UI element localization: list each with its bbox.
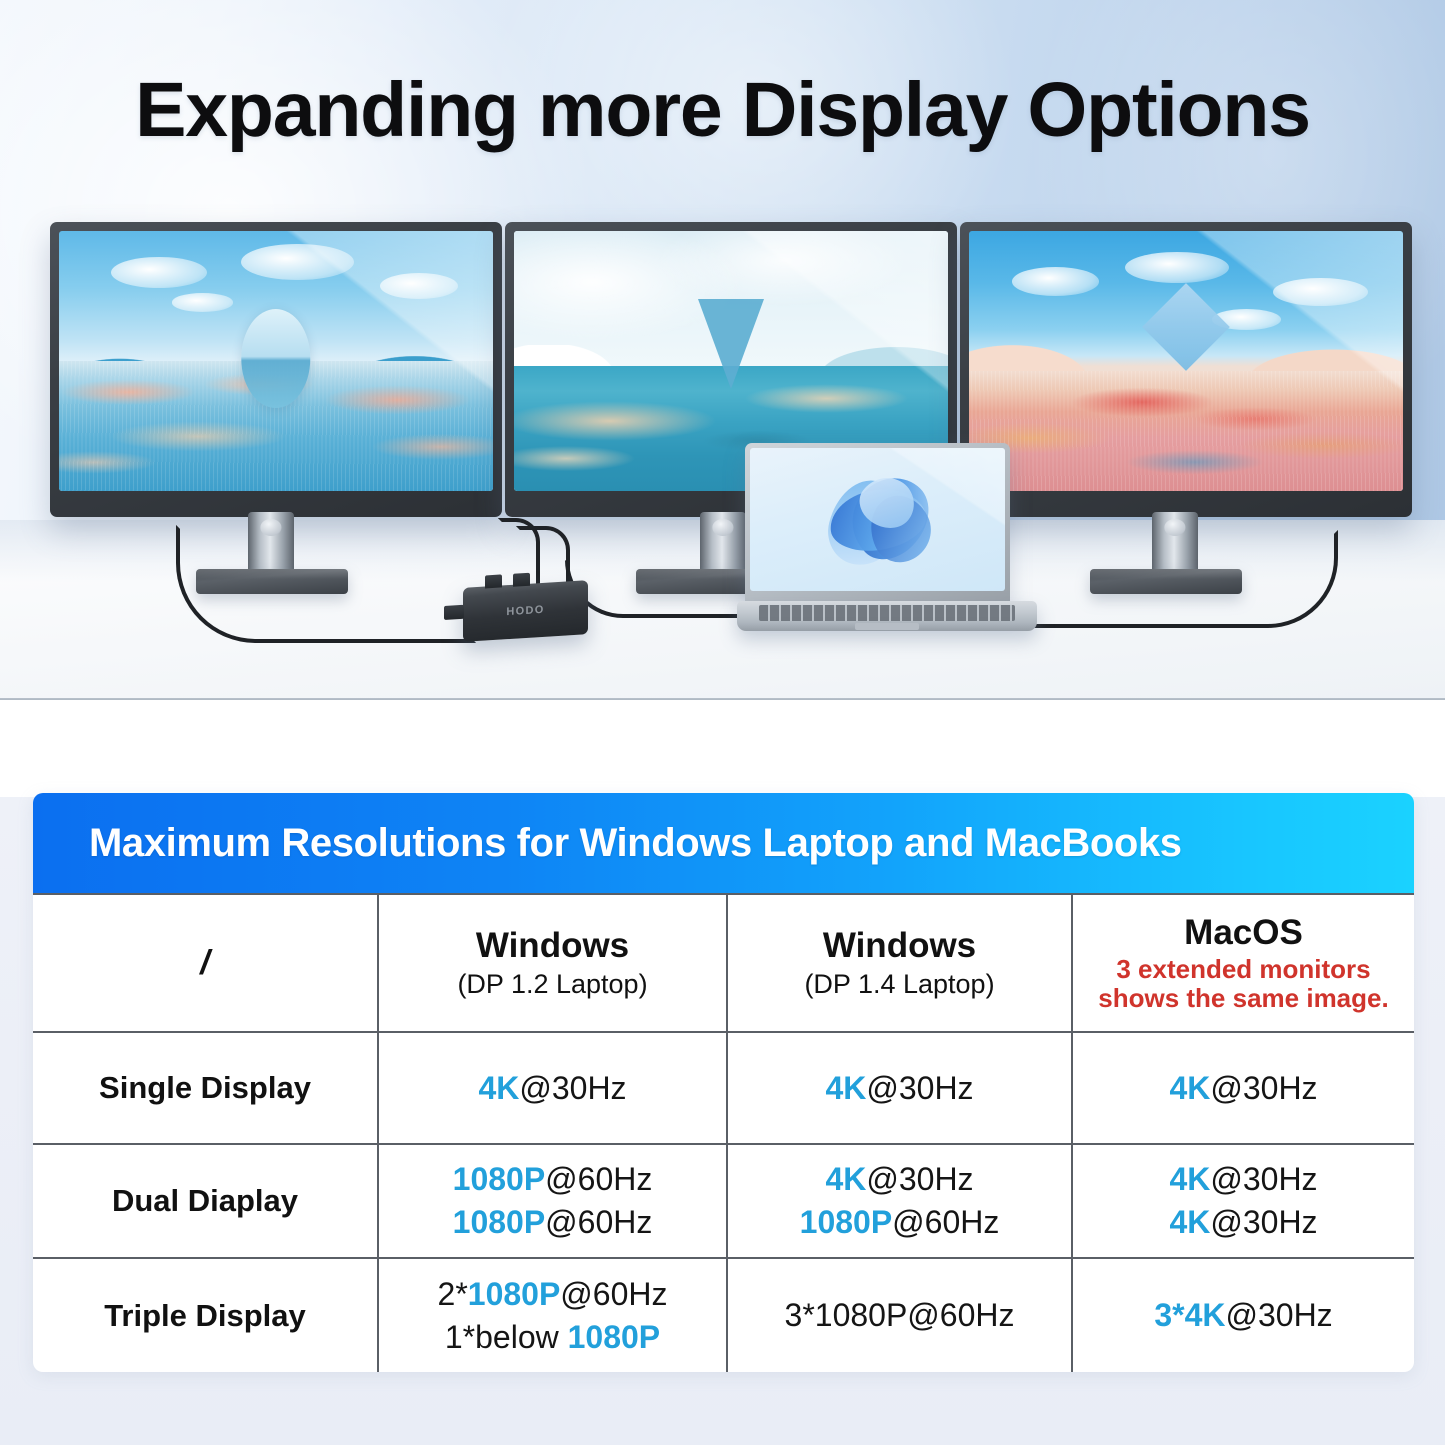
hero-section: Expanding more Display Options (0, 0, 1445, 700)
resolution-line: 4K@30Hz (1077, 1158, 1410, 1201)
cable-monitor-1 (176, 525, 476, 643)
row-label-single-display: Single Display (33, 1032, 378, 1144)
table-row-triple-display: Triple Display 2*1080P@60Hz1*below 1080P… (33, 1258, 1414, 1372)
table-header-windows-dp12: Windows (DP 1.2 Laptop) (378, 894, 727, 1032)
resolution-line: 4K@30Hz (732, 1158, 1067, 1201)
cell-single-macos: 4K@30Hz (1072, 1032, 1414, 1144)
hub-brand-logo: HODO (463, 601, 588, 621)
table-body: Single Display 4K@30Hz 4K@30Hz 4K@30Hz D… (33, 1032, 1414, 1372)
resolution-line: 4K@30Hz (732, 1067, 1067, 1110)
laptop-keyboard (759, 605, 1015, 621)
cell-triple-win-dp12: 2*1080P@60Hz1*below 1080P (378, 1258, 727, 1372)
product-infographic: Expanding more Display Options (0, 0, 1445, 1445)
cell-dual-macos: 4K@30Hz4K@30Hz (1072, 1144, 1414, 1258)
laptop-screen (750, 448, 1005, 591)
table-row-single-display: Single Display 4K@30Hz 4K@30Hz 4K@30Hz (33, 1032, 1414, 1144)
resolution-table: / Windows (DP 1.2 Laptop) Windows (DP 1.… (33, 893, 1414, 1372)
table-header-row: / Windows (DP 1.2 Laptop) Windows (DP 1.… (33, 894, 1414, 1032)
laptop-screen-glare (750, 448, 1005, 591)
row-label-dual-display: Dual Diaplay (33, 1144, 378, 1258)
cell-triple-win-dp14: 3*1080P@60Hz (727, 1258, 1072, 1372)
docking-station: HODO (463, 580, 588, 642)
resolution-line: 4K@30Hz (1077, 1201, 1410, 1244)
resolution-table-card: Maximum Resolutions for Windows Laptop a… (33, 793, 1414, 1372)
desk-front-edge (0, 698, 1445, 700)
monitor-2-triangle-shape (698, 299, 764, 389)
monitor-1-wallpaper (59, 231, 493, 491)
resolution-line: 2*1080P@60Hz (383, 1273, 722, 1316)
resolution-line: 1080P@60Hz (383, 1201, 722, 1244)
resolution-line: 1080P@60Hz (732, 1201, 1067, 1244)
resolution-line: 4K@30Hz (1077, 1067, 1410, 1110)
hub-port-2 (513, 573, 530, 587)
cell-single-win-dp14: 4K@30Hz (727, 1032, 1072, 1144)
resolution-line: 1080P@60Hz (383, 1158, 722, 1201)
laptop (737, 443, 1037, 658)
resolution-table-banner: Maximum Resolutions for Windows Laptop a… (33, 793, 1414, 893)
page-title: Expanding more Display Options (0, 66, 1445, 155)
table-header-slash: / (33, 894, 378, 1032)
cell-triple-macos: 3*4K@30Hz (1072, 1258, 1414, 1372)
monitor-1-screen (59, 231, 493, 491)
resolution-line: 4K@30Hz (383, 1067, 722, 1110)
cable-hub-to-laptop (565, 560, 745, 618)
resolution-line: 1*below 1080P (383, 1316, 722, 1359)
hub-side-connector (444, 605, 464, 620)
table-header-windows-dp14: Windows (DP 1.4 Laptop) (727, 894, 1072, 1032)
cell-single-win-dp12: 4K@30Hz (378, 1032, 727, 1144)
monitor-1-bezel (50, 222, 502, 517)
laptop-lid (745, 443, 1010, 603)
row-label-triple-display: Triple Display (33, 1258, 378, 1372)
monitor-1-oval-shape (241, 309, 310, 408)
cell-dual-win-dp12: 1080P@60Hz1080P@60Hz (378, 1144, 727, 1258)
table-row-dual-display: Dual Diaplay 1080P@60Hz1080P@60Hz 4K@30H… (33, 1144, 1414, 1258)
hub-port-1 (485, 574, 502, 588)
table-header-macos: MacOS 3 extended monitors shows the same… (1072, 894, 1414, 1032)
macos-warning-note: 3 extended monitors shows the same image… (1077, 955, 1410, 1013)
resolution-line: 3*1080P@60Hz (732, 1294, 1067, 1337)
laptop-trackpad (855, 623, 919, 630)
cell-dual-win-dp14: 4K@30Hz1080P@60Hz (727, 1144, 1072, 1258)
resolution-line: 3*4K@30Hz (1077, 1294, 1410, 1337)
resolution-table-banner-title: Maximum Resolutions for Windows Laptop a… (89, 821, 1182, 866)
cable-monitor-3 (1020, 530, 1338, 628)
monitor-1 (50, 222, 502, 517)
